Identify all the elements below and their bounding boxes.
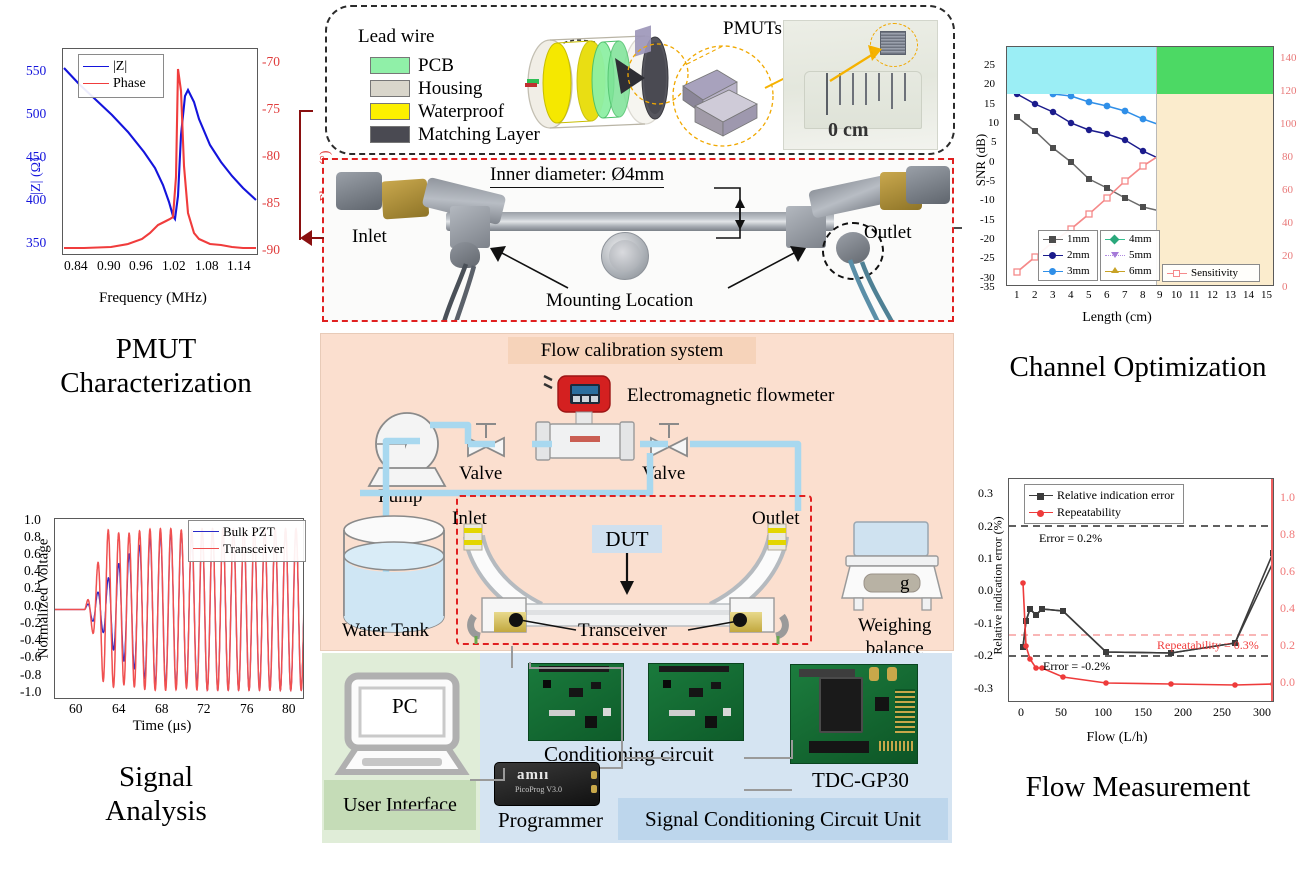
- legend-marker-3mm: [1049, 268, 1056, 275]
- channel-xtick-7: 8: [1140, 289, 1146, 301]
- inner-diameter-label: Inner diameter: Ø4mm: [490, 164, 664, 188]
- legend-marker-4mm: [1110, 235, 1120, 245]
- impedance-xtick-1: 0.90: [97, 258, 121, 274]
- legend-line-6mm: [1105, 271, 1125, 272]
- signal-chart: Normalized Voltage Time (μs) 60 64 68 72…: [12, 490, 310, 745]
- impedance-xlabel: Frequency (MHz): [48, 290, 258, 307]
- legend-line-1mm: [1043, 239, 1063, 240]
- channel-xtick-6: 7: [1122, 289, 1128, 301]
- impedance-xtick-3: 1.02: [162, 258, 186, 274]
- legend-label-waterproof: Waterproof: [418, 101, 504, 123]
- channel-y2tick-2: 40: [1282, 217, 1293, 229]
- impedance-y2tick-0: -90: [262, 242, 280, 258]
- legend-line-5mm: [1105, 255, 1125, 256]
- legend-row-bulk-pzt: Bulk PZT: [189, 523, 305, 540]
- channel-xtick-10: 11: [1189, 289, 1200, 301]
- channel-xtick-8: 9: [1157, 289, 1163, 301]
- legend-row-sensitivity: Sensitivity: [1163, 265, 1259, 281]
- flow-xtick-2: 100: [1094, 705, 1112, 720]
- channel-legend-col2: 4mm 5mm 6mm: [1100, 230, 1160, 281]
- left-link-line: [299, 112, 301, 240]
- caption-channel-optimization: Channel Optimization: [962, 350, 1314, 384]
- flow-xtick-6: 300: [1253, 705, 1271, 720]
- flow-xtick-1: 50: [1055, 705, 1067, 720]
- legend-line-4mm: [1105, 239, 1125, 240]
- mounting-location-label: Mounting Location: [546, 290, 693, 312]
- legend-label-6mm: 6mm: [1129, 265, 1152, 277]
- impedance-ytick-4: 550: [26, 63, 46, 79]
- signal-ytick-8: 0.6: [24, 546, 41, 562]
- signal-xtick-3: 72: [197, 701, 211, 717]
- legend-label-sensitivity: Sensitivity: [1191, 267, 1238, 279]
- flow-right-spine: [1271, 479, 1273, 701]
- signal-ytick-4: -0.2: [20, 615, 41, 631]
- impedance-ytick-0: 350: [26, 235, 46, 251]
- channel-ytick-5: -10: [980, 194, 995, 206]
- matching-layer-swatch: [370, 126, 410, 143]
- flow-ytick-2: -0.1: [974, 616, 993, 631]
- chip-scale-photo: 0 cm: [783, 20, 938, 150]
- legend-line-relative-error: [1029, 495, 1053, 496]
- signal-ytick-2: -0.6: [20, 649, 41, 665]
- legend-row-transceiver: Transceiver: [189, 540, 305, 557]
- channel-ytick-4: -15: [980, 214, 995, 226]
- legend-row-4mm: 4mm: [1101, 231, 1159, 247]
- channel-legend-sensitivity: Sensitivity: [1162, 264, 1260, 282]
- flow-ytick-3: 0.0: [978, 583, 993, 598]
- panel-link-arrow-left: [298, 228, 326, 258]
- mounting-block-left: [450, 206, 490, 248]
- signal-xtick-0: 60: [69, 701, 83, 717]
- pcb-swatch: [370, 57, 410, 74]
- housing-swatch: [370, 80, 410, 97]
- signal-ytick-5: 0.0: [24, 598, 41, 614]
- legend-label-impedance: |Z|: [113, 59, 127, 75]
- annotation-error-negative: Error = -0.2%: [1043, 659, 1110, 674]
- signal-xtick-5: 80: [282, 701, 296, 717]
- caption-signal-analysis: Signal Analysis: [0, 760, 312, 828]
- channel-optimization-chart: SNR (dB) Sensitivity (ns/(m/s)) Length (…: [962, 32, 1314, 332]
- annotation-error-positive: Error = 0.2%: [1039, 531, 1102, 546]
- channel-xtick-14: 15: [1261, 289, 1272, 301]
- signal-ytick-6: 0.2: [24, 580, 41, 596]
- bulk-pzt-legend-line: [193, 531, 219, 532]
- annotation-repeatability: Repeatability = 0.3%: [1157, 638, 1259, 653]
- legend-label-relative-error: Relative indication error: [1057, 488, 1174, 503]
- water-tank-drawing: [336, 512, 456, 634]
- channel-y2tick-5: 100: [1280, 118, 1297, 130]
- region-green: [1156, 47, 1274, 94]
- channel-ytick-9: 10: [988, 117, 999, 129]
- channel-y2tick-1: 20: [1282, 250, 1293, 262]
- flow-y2tick-5: 1.0: [1280, 490, 1295, 505]
- legend-label-4mm: 4mm: [1129, 233, 1152, 245]
- impedance-ytick-3: 500: [26, 106, 46, 122]
- signal-xlabel: Time (μs): [52, 718, 272, 735]
- transceiver-label: Transceiver: [578, 620, 667, 642]
- pmuts-label: PMUTs: [723, 18, 782, 40]
- pipe-photo-panel: Inner diameter: Ø4mm Inlet Outlet Mounti…: [322, 158, 954, 322]
- channel-ytick-12: 25: [984, 59, 995, 71]
- impedance-ytick-1: 400: [26, 192, 46, 208]
- flow-measurement-chart: Relative indication error (%) Repeatabil…: [962, 462, 1314, 752]
- legend-line-2mm: [1043, 255, 1063, 256]
- legend-label-bulk-pzt: Bulk PZT: [223, 524, 275, 540]
- legend-label-transceiver: Transceiver: [223, 541, 284, 557]
- flow-ytick-5: 0.2: [978, 519, 993, 534]
- legend-row-1mm: 1mm: [1039, 231, 1097, 247]
- channel-y2tick-7: 140: [1280, 52, 1297, 64]
- phase-legend-line: [83, 83, 109, 84]
- legend-label-5mm: 5mm: [1129, 249, 1152, 261]
- water-tank-label: Water Tank: [342, 620, 429, 642]
- legend-marker-repeatability: [1037, 510, 1044, 517]
- channel-xtick-3: 4: [1068, 289, 1074, 301]
- impedance-chart: |Z| (Ω) Phase (°) Frequency (MHz) 0.84 0…: [18, 40, 310, 315]
- channel-xtick-12: 13: [1225, 289, 1236, 301]
- signal-ytick-1: -0.8: [20, 667, 41, 683]
- flow-legend: Relative indication error Repeatability: [1024, 484, 1184, 524]
- scale-label: 0 cm: [828, 119, 869, 142]
- waterproof-swatch: [370, 103, 410, 120]
- channel-ytick-3: -20: [980, 233, 995, 245]
- impedance-y2tick-1: -85: [262, 195, 280, 211]
- legend-row-3mm: 3mm: [1039, 263, 1097, 279]
- flow-ytick-0: -0.3: [974, 681, 993, 696]
- signal-xtick-2: 68: [155, 701, 169, 717]
- legend-row-repeatability: Repeatability: [1025, 504, 1183, 521]
- weighing-balance-drawing: [838, 520, 948, 618]
- flow-xlabel: Flow (L/h): [1002, 730, 1232, 746]
- channel-xlabel: Length (cm): [1002, 310, 1232, 326]
- mounting-arrow-left: [482, 246, 572, 292]
- flow-ytick-4: 0.1: [978, 551, 993, 566]
- left-link-line-2: [299, 110, 313, 112]
- flow-y2tick-3: 0.6: [1280, 564, 1295, 579]
- inlet-fitting: [381, 178, 430, 219]
- channel-xtick-4: 5: [1086, 289, 1092, 301]
- channel-ytick-11: 20: [984, 78, 995, 90]
- channel-y2tick-4: 80: [1282, 151, 1293, 163]
- channel-ytick-2: -25: [980, 252, 995, 264]
- impedance-y2tick-2: -80: [262, 148, 280, 164]
- channel-xtick-0: 1: [1014, 289, 1020, 301]
- channel-y2tick-3: 60: [1282, 184, 1293, 196]
- channel-y2tick-0: 0: [1282, 281, 1288, 293]
- channel-ytick-0: -35: [980, 281, 995, 293]
- channel-xtick-5: 6: [1104, 289, 1110, 301]
- legend-marker-6mm: [1111, 267, 1119, 273]
- signal-ytick-9: 0.8: [24, 529, 41, 545]
- legend-label-pcb: PCB: [418, 55, 454, 77]
- flow-xtick-5: 250: [1213, 705, 1231, 720]
- signal-ytick-3: -0.4: [20, 632, 41, 648]
- inlet-clamp: [336, 172, 382, 210]
- legend-label-3mm: 3mm: [1067, 265, 1090, 277]
- impedance-xtick-4: 1.08: [195, 258, 219, 274]
- pipe-tube: [446, 212, 834, 231]
- flow-y2tick-4: 0.8: [1280, 527, 1295, 542]
- flow-y2tick-0: 0.0: [1280, 675, 1295, 690]
- region-cyan: [1007, 47, 1156, 94]
- diameter-arrow: [714, 186, 748, 242]
- impedance-ylabel: |Z| (Ω): [29, 121, 45, 231]
- legend-marker-5mm: [1111, 252, 1119, 258]
- signal-legend: Bulk PZT Transceiver: [188, 520, 306, 562]
- legend-row-6mm: 6mm: [1101, 263, 1159, 279]
- impedance-legend: |Z| Phase: [78, 54, 164, 98]
- caption-pmut-characterization: PMUT Characterization: [0, 332, 312, 400]
- caption-flow-measurement: Flow Measurement: [962, 770, 1314, 804]
- signal-ytick-0: -1.0: [20, 684, 41, 700]
- legend-label-phase: Phase: [113, 76, 146, 92]
- impedance-xtick-2: 0.96: [129, 258, 153, 274]
- flow-xtick-0: 0: [1018, 705, 1024, 720]
- legend-row-2mm: 2mm: [1039, 247, 1097, 263]
- channel-xtick-9: 10: [1171, 289, 1182, 301]
- legend-marker-relative-error: [1037, 493, 1044, 500]
- legend-label-repeatability: Repeatability: [1057, 505, 1121, 520]
- signal-ytick-7: 0.4: [24, 563, 41, 579]
- flow-y2tick-1: 0.2: [1280, 638, 1295, 653]
- legend-row-phase: Phase: [79, 75, 163, 92]
- channel-xtick-13: 14: [1243, 289, 1254, 301]
- electronics-wiring: [322, 640, 954, 840]
- ruler-tick: [891, 73, 893, 109]
- legend-line-sensitivity: [1167, 273, 1187, 274]
- flow-y2tick-2: 0.4: [1280, 601, 1295, 616]
- chip-callout-circle: [870, 23, 918, 67]
- channel-ytick-8: 5: [991, 136, 997, 148]
- impedance-legend-line: [83, 66, 109, 67]
- flow-ytick-1: -0.2: [974, 648, 993, 663]
- signal-xtick-4: 76: [240, 701, 254, 717]
- signal-ytick-10: 1.0: [24, 512, 41, 528]
- region-beige: [1156, 94, 1274, 287]
- legend-marker-2mm: [1049, 252, 1056, 259]
- signal-xtick-1: 64: [112, 701, 126, 717]
- legend-label-2mm: 2mm: [1067, 249, 1090, 261]
- legend-row-impedance: |Z|: [79, 58, 163, 75]
- channel-ytick-6: -5: [986, 175, 995, 187]
- impedance-xtick-0: 0.84: [64, 258, 88, 274]
- legend-label-1mm: 1mm: [1067, 233, 1090, 245]
- legend-line-repeatability: [1029, 512, 1053, 513]
- flow-ytick-6: 0.3: [978, 486, 993, 501]
- pmut-array-drawing: [665, 40, 785, 152]
- impedance-y2tick-3: -75: [262, 101, 280, 117]
- mounting-arrow-right: [724, 246, 814, 292]
- channel-y2tick-6: 120: [1280, 85, 1297, 97]
- channel-ytick-7: 0: [989, 156, 995, 168]
- legend-row-relative-error: Relative indication error: [1025, 487, 1183, 504]
- channel-ytick-10: 15: [984, 98, 995, 110]
- impedance-ytick-2: 450: [26, 149, 46, 165]
- legend-marker-sensitivity: [1173, 270, 1180, 277]
- legend-line-3mm: [1043, 271, 1063, 272]
- coin-inner: [609, 240, 641, 272]
- inlet-label: Inlet: [352, 226, 387, 248]
- channel-xtick-1: 2: [1032, 289, 1038, 301]
- channel-xtick-11: 12: [1207, 289, 1218, 301]
- flow-xtick-4: 200: [1174, 705, 1192, 720]
- flow-xtick-3: 150: [1134, 705, 1152, 720]
- legend-label-housing: Housing: [418, 78, 482, 100]
- legend-marker-1mm: [1049, 236, 1056, 243]
- lead-wire-label: Lead wire: [358, 26, 434, 48]
- channel-legend-col1: 1mm 2mm 3mm: [1038, 230, 1098, 281]
- outlet-label: Outlet: [864, 222, 912, 244]
- impedance-y2tick-4: -70: [262, 54, 280, 70]
- outlet-clamp: [906, 166, 950, 204]
- legend-row-5mm: 5mm: [1101, 247, 1159, 263]
- balance-display-label: g: [900, 573, 910, 595]
- ruler-tick: [904, 73, 906, 101]
- impedance-xtick-5: 1.14: [227, 258, 251, 274]
- channel-xtick-2: 3: [1050, 289, 1056, 301]
- transceiver-legend-line: [193, 548, 219, 549]
- cable-right: [844, 260, 914, 322]
